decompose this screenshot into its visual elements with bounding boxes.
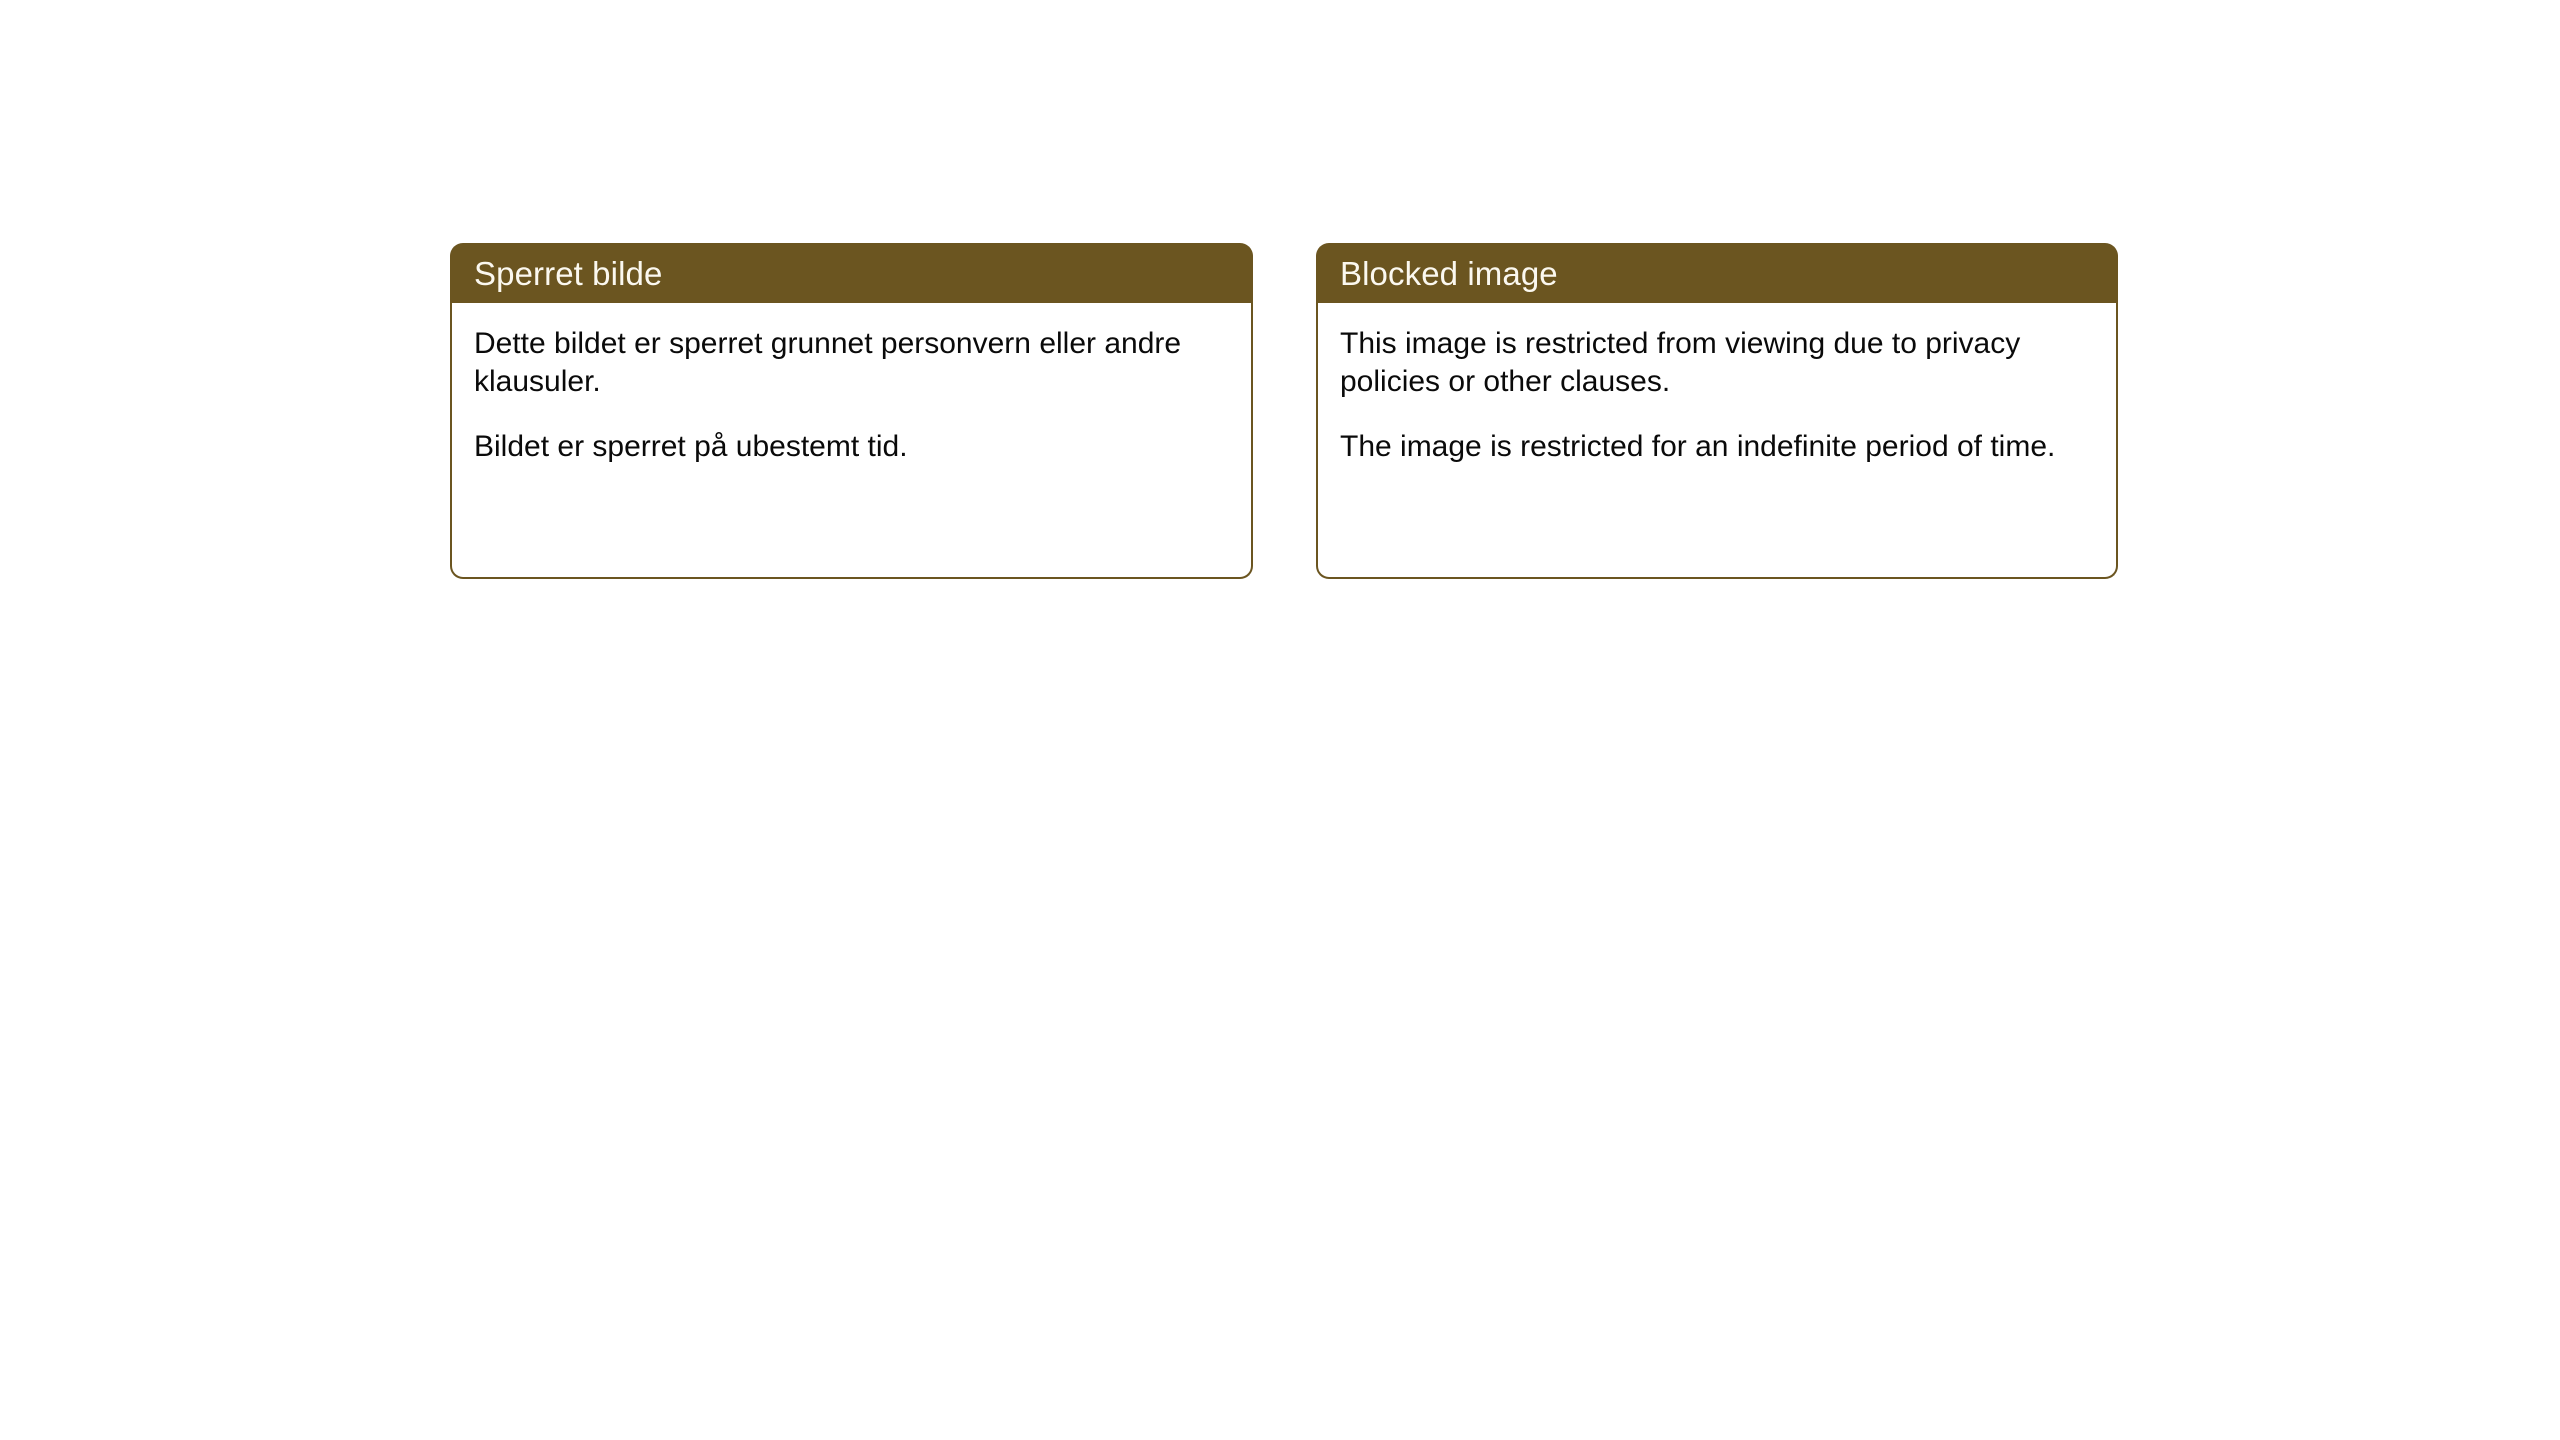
panel-paragraph-norwegian-1: Dette bildet er sperret grunnet personve…	[474, 325, 1231, 401]
panel-header-english: Blocked image	[1316, 243, 2118, 303]
panel-body-english: This image is restricted from viewing du…	[1316, 303, 2118, 579]
panel-header-norwegian: Sperret bilde	[450, 243, 1253, 303]
panel-paragraph-norwegian-2: Bildet er sperret på ubestemt tid.	[474, 428, 1231, 466]
blocked-image-notice-panel-english: Blocked image This image is restricted f…	[1316, 243, 2118, 579]
blocked-image-notice-panel-norwegian: Sperret bilde Dette bildet er sperret gr…	[450, 243, 1253, 579]
panel-title-english: Blocked image	[1340, 257, 1558, 290]
panel-paragraph-english-1: This image is restricted from viewing du…	[1340, 325, 2096, 401]
panel-title-norwegian: Sperret bilde	[474, 257, 662, 290]
panel-body-norwegian: Dette bildet er sperret grunnet personve…	[450, 303, 1253, 579]
panel-paragraph-english-2: The image is restricted for an indefinit…	[1340, 428, 2096, 466]
page-canvas: Sperret bilde Dette bildet er sperret gr…	[0, 0, 2560, 1440]
